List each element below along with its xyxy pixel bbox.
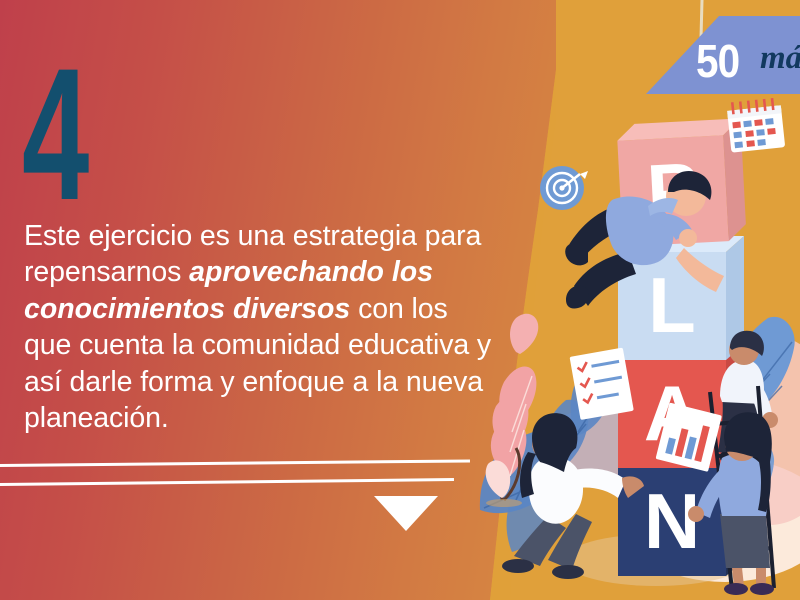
badge-word: más	[760, 42, 800, 75]
triangle-down-icon	[374, 496, 438, 531]
divider-line-bottom	[0, 478, 454, 486]
slide-canvas: N A L P	[0, 0, 800, 600]
svg-text:N: N	[644, 477, 700, 565]
badge-number: 50	[696, 38, 739, 84]
divider-line-top	[0, 459, 470, 467]
slide-number: 4	[22, 40, 88, 228]
slide-body-text: Este ejercicio es una estrategia para re…	[24, 218, 494, 437]
svg-text:L: L	[648, 261, 696, 349]
badge-50mas: 50 más	[612, 16, 800, 94]
checklist-icon	[570, 348, 634, 420]
